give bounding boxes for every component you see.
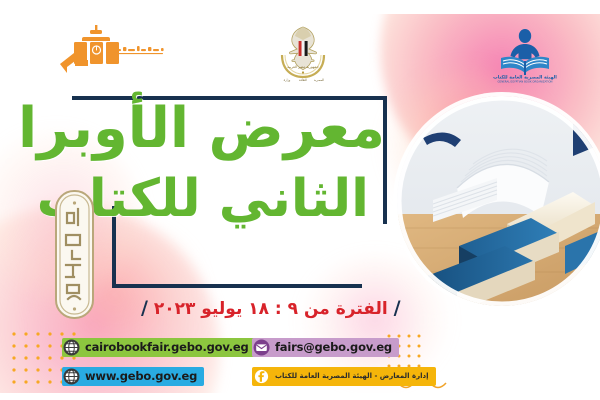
date-slash-left: / [394,297,401,319]
contact-website-fair[interactable]: cairobookfair.gebo.gov.eg [62,338,256,357]
bottom-white-band [0,393,600,400]
envelope-icon [252,338,271,357]
title-line-2: الثاني للكتاب [60,173,369,226]
contact-website-gebo[interactable]: www.gebo.gov.eg [62,367,204,386]
kufic-cartouche-emblem [52,187,97,322]
contact-email-text: fairs@gebo.gov.eg [275,338,392,357]
svg-text:وزارة: وزارة [284,78,291,82]
facebook-icon [252,367,271,386]
poster-title: معرض الأوبرا الثاني للكتاب [60,100,385,226]
globe-icon [62,367,81,386]
contact-email[interactable]: fairs@gebo.gov.eg [252,338,399,357]
contact-facebook[interactable]: إدارة المعارض - الهيئة المصرية العامة لل… [252,367,436,386]
event-date-banner: / الفترة من ٩ : ١٨ يوليو ٢٠٢٣ / [141,297,401,319]
contact-website-gebo-text: www.gebo.gov.eg [85,367,197,386]
svg-text:GENERAL EGYPTIAN BOOK ORGANIZA: GENERAL EGYPTIAN BOOK ORGANIZATION [498,80,553,84]
title-line-1: معرض الأوبرا [60,100,385,157]
poster-canvas: جمهورية مصر العربية وزارة الثقافة المصري… [0,0,600,400]
svg-text:جمهورية مصر العربية: جمهورية مصر العربية [287,65,319,69]
svg-text:الثقافة: الثقافة [299,78,307,82]
cairo-opera-house-logo [54,24,170,80]
stacked-books-photo [397,96,600,306]
top-white-band [0,0,600,14]
gebo-logo: الهيئة المصرية العامة للكتاب GENERAL EGY… [492,22,558,84]
date-slash-right: / [141,297,148,319]
event-date-text: الفترة من ٩ : ١٨ يوليو ٢٠٢٣ [154,299,388,319]
globe-icon [62,338,81,357]
contact-facebook-text: إدارة المعارض - الهيئة المصرية العامة لل… [275,367,429,386]
contact-website-fair-text: cairobookfair.gebo.gov.eg [85,338,249,357]
egypt-government-emblem: جمهورية مصر العربية وزارة الثقافة المصري… [272,22,334,84]
svg-text:المصرية: المصرية [314,78,324,82]
title-frame-bottom [112,284,362,288]
